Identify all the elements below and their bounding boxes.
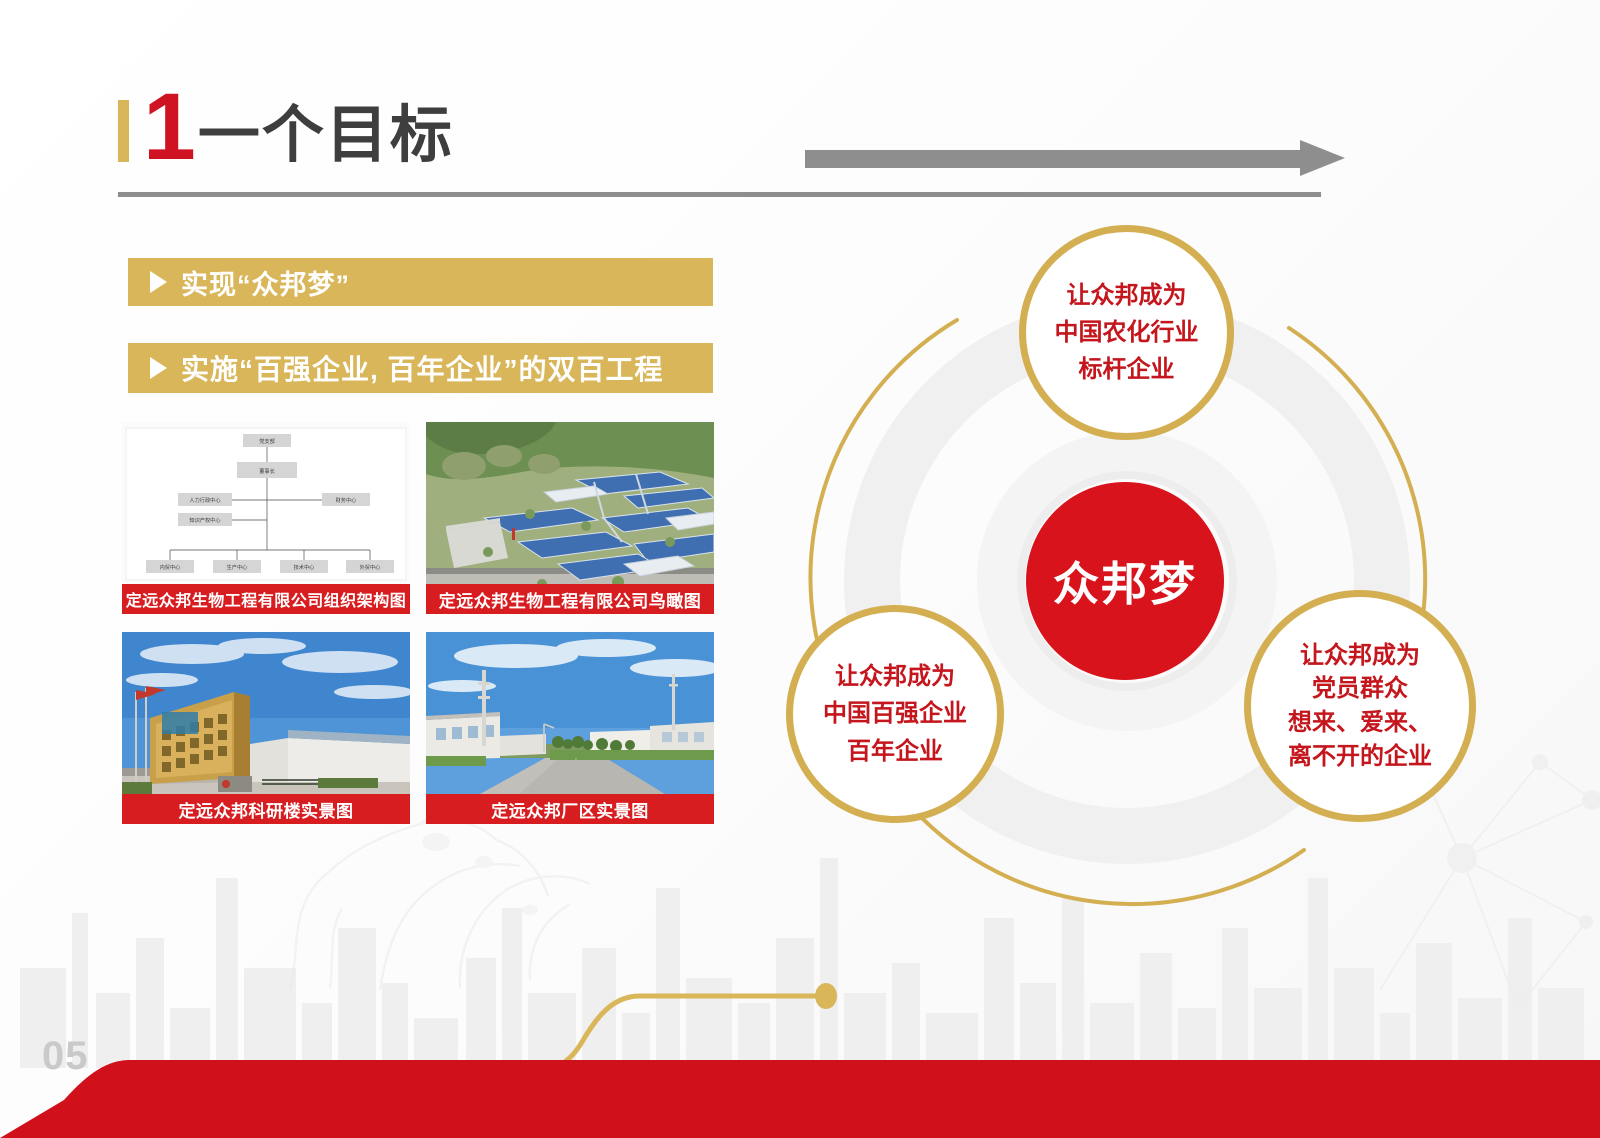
photo-card-aerial[interactable]: 定远众邦生物工程有限公司鸟瞰图 bbox=[426, 422, 714, 614]
photo-card-org-chart[interactable]: 党支部 董事长 人力行政中心 知识产权中心 财务中心 内贸中心 生产中心 技术中… bbox=[122, 422, 410, 614]
center-node-zhongbang-dream: 众邦梦 bbox=[1026, 482, 1224, 680]
photo-card-plant-road[interactable]: 定远众邦厂区实景图 bbox=[426, 632, 714, 824]
photo-caption-research-building: 定远众邦科研楼实景图 bbox=[122, 794, 410, 824]
vision-node-top[interactable]: 让众邦成为 中国农化行业 标杆企业 bbox=[1019, 225, 1234, 440]
vision-node-top-line-2: 中国农化行业 bbox=[1055, 314, 1199, 351]
vision-circle-diagram: 众邦梦 让众邦成为 中国农化行业 标杆企业 让众邦成为 中国百强企业 百年企业 … bbox=[744, 210, 1544, 910]
svg-text:财务中心: 财务中心 bbox=[336, 496, 357, 504]
svg-text:知识产权中心: 知识产权中心 bbox=[189, 516, 220, 524]
triangle-right-icon bbox=[150, 271, 167, 293]
svg-text:生产中心: 生产中心 bbox=[227, 563, 248, 571]
vision-node-right-line-2: 党员群众 bbox=[1312, 672, 1408, 706]
gold-line-endpoint-dot bbox=[815, 983, 837, 1009]
banner-goal-1[interactable]: 实现“众邦梦” bbox=[128, 258, 713, 306]
header-rule bbox=[118, 192, 1321, 197]
svg-text:党支部: 党支部 bbox=[259, 437, 275, 445]
photo-grid: 党支部 董事长 人力行政中心 知识产权中心 财务中心 内贸中心 生产中心 技术中… bbox=[122, 422, 714, 824]
page-number: 05 bbox=[42, 1036, 89, 1076]
vision-node-right-line-1: 让众邦成为 bbox=[1300, 639, 1420, 673]
slide: 1 一个目标 实现“众邦梦” 实施“百强企业, 百年企业”的双百工程 bbox=[0, 0, 1600, 1138]
banner-goal-2-label: 实施“百强企业, 百年企业”的双百工程 bbox=[181, 348, 664, 388]
triangle-right-icon bbox=[150, 357, 167, 379]
vision-node-right-line-4: 离不开的企业 bbox=[1288, 740, 1432, 774]
page-title: 一个目标 bbox=[198, 107, 454, 166]
photo-caption-aerial: 定远众邦生物工程有限公司鸟瞰图 bbox=[426, 584, 714, 614]
slide-header: 1 一个目标 bbox=[118, 68, 454, 168]
footer-red-bar bbox=[0, 1038, 1600, 1138]
banner-goal-2[interactable]: 实施“百强企业, 百年企业”的双百工程 bbox=[128, 343, 713, 393]
vision-node-top-line-3: 标杆企业 bbox=[1079, 351, 1175, 388]
vision-node-right[interactable]: 让众邦成为 党员群众 想来、爱来、 离不开的企业 bbox=[1244, 590, 1476, 822]
vision-node-left[interactable]: 让众邦成为 中国百强企业 百年企业 bbox=[786, 605, 1004, 823]
section-number: 1 bbox=[143, 87, 192, 168]
photo-caption-org-chart: 定远众邦生物工程有限公司组织架构图 bbox=[122, 584, 410, 614]
vision-node-right-line-3: 想来、爱来、 bbox=[1288, 706, 1432, 740]
svg-text:外贸中心: 外贸中心 bbox=[360, 563, 381, 571]
header-gold-bar bbox=[118, 100, 129, 162]
photo-card-research-building[interactable]: 定远众邦科研楼实景图 bbox=[122, 632, 410, 824]
svg-text:内贸中心: 内贸中心 bbox=[160, 563, 181, 571]
svg-text:人力行政中心: 人力行政中心 bbox=[189, 496, 220, 504]
header-arrow-icon bbox=[805, 140, 1345, 190]
photo-caption-plant-road: 定远众邦厂区实景图 bbox=[426, 794, 714, 824]
svg-text:董事长: 董事长 bbox=[259, 467, 275, 475]
banner-goal-1-label: 实现“众邦梦” bbox=[181, 263, 350, 302]
vision-node-left-line-2: 中国百强企业 bbox=[823, 695, 967, 732]
vision-node-left-line-3: 百年企业 bbox=[847, 733, 943, 770]
svg-text:技术中心: 技术中心 bbox=[294, 563, 315, 571]
vision-node-left-line-1: 让众邦成为 bbox=[835, 658, 955, 695]
vision-node-top-line-1: 让众邦成为 bbox=[1067, 277, 1187, 314]
